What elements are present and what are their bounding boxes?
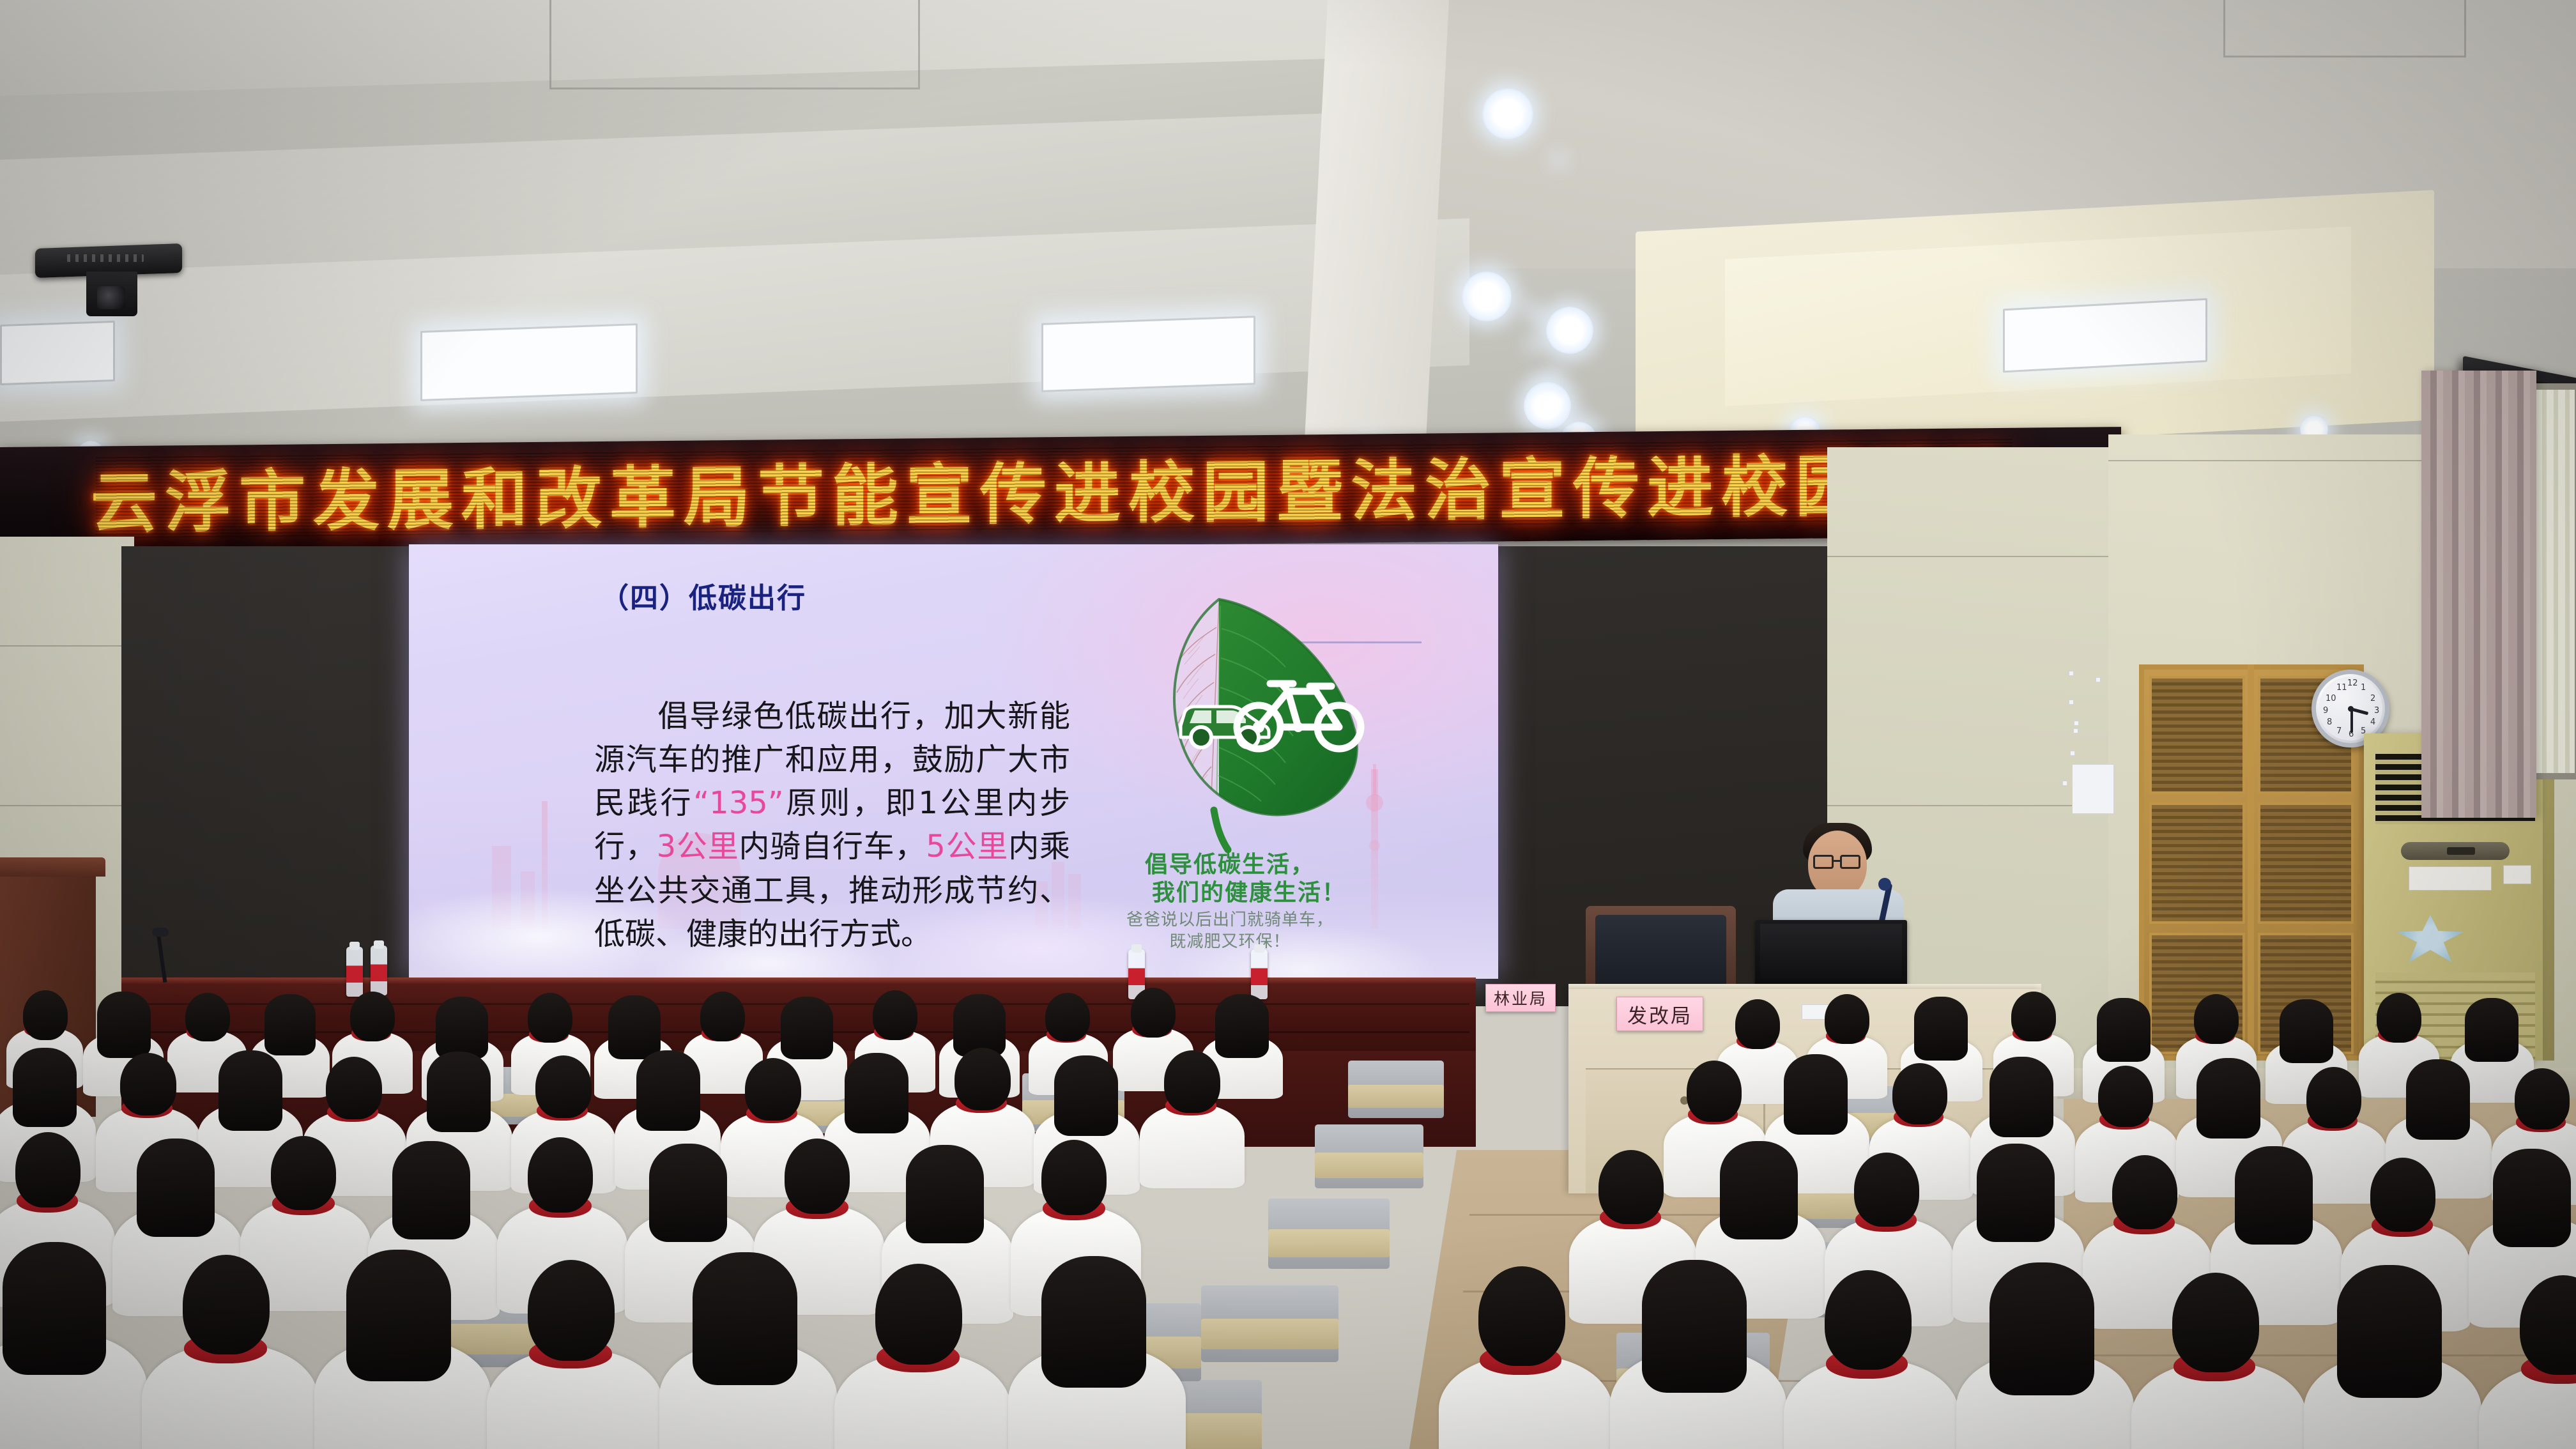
bottle-cap — [374, 940, 384, 949]
audience-head — [528, 993, 572, 1043]
seat-desk — [1315, 1153, 1423, 1178]
ceiling-hatch — [2223, 0, 2466, 57]
audience-head — [15, 1132, 80, 1207]
leaf-graphic — [1080, 583, 1437, 857]
seat-desk — [1268, 1229, 1390, 1257]
ceiling — [0, 0, 2576, 486]
ceiling-panel-light — [0, 321, 115, 385]
seat-desk — [1348, 1085, 1444, 1108]
audience-head — [954, 1048, 1011, 1110]
audience-head — [1215, 994, 1269, 1058]
audience-head — [185, 993, 230, 1041]
audience-head — [1687, 1061, 1742, 1122]
audience-head — [875, 1264, 962, 1365]
eyeglasses-bridge — [1834, 860, 1840, 862]
audience-head — [1784, 1054, 1848, 1135]
audience-head — [120, 1053, 176, 1115]
projector-lens-icon — [97, 286, 125, 309]
audience-head — [2112, 1155, 2177, 1229]
audience-head — [2280, 999, 2333, 1063]
audience-head — [1989, 1057, 2053, 1137]
audience-head — [1892, 1063, 1947, 1124]
audience-head — [1825, 1270, 1912, 1370]
ceiling-panel-light — [420, 323, 638, 401]
ac-label-sticker-small — [2503, 865, 2531, 884]
seat-desk — [1201, 1319, 1338, 1349]
wall-notice — [2069, 671, 2074, 676]
louver-panel — [2149, 802, 2245, 924]
audience-head — [271, 1136, 336, 1210]
wall-notice — [2069, 700, 2074, 705]
projector-vent — [67, 254, 144, 262]
slide-graphic-subcaption: 爸爸说以后出门就骑单车， 既减肥又环保！ — [1064, 910, 1396, 953]
ceiling-panel-light — [1041, 316, 1255, 392]
auditorium-photo: 云浮市发展和改革局节能宣传进校园暨法治宣传进校园活动 — [0, 0, 2576, 1449]
audience-head — [1989, 1262, 2094, 1395]
ceiling-panel-light — [2003, 298, 2207, 373]
louver-panel — [2149, 676, 2245, 794]
audience-head — [1054, 1055, 1118, 1136]
audience-head — [2377, 993, 2421, 1043]
audience-head — [693, 1252, 797, 1385]
audience-head — [873, 990, 917, 1040]
audience-head — [1642, 1260, 1747, 1393]
audience-head — [2406, 1059, 2470, 1140]
wall-notice — [2074, 721, 2079, 726]
ceiling-downlight — [1482, 88, 1533, 139]
subcaption-line-2: 既减肥又环保！ — [1064, 931, 1396, 953]
audience-head — [2097, 998, 2150, 1062]
caption-line-2: 我们的健康生活！ — [1051, 879, 1409, 907]
ceiling-downlight — [1524, 382, 1571, 429]
audience-head — [436, 997, 488, 1059]
audience-head — [608, 995, 661, 1059]
audience-head — [528, 1137, 593, 1213]
ceiling-downlight — [1462, 272, 1512, 321]
clock-face: 12 1 2 3 4 5 6 7 8 9 10 11 — [2319, 677, 2382, 740]
louver-panel — [2258, 802, 2354, 924]
slide-body-text: 倡导绿色低碳出行，加大新能源汽车的推广和应用，鼓励广大市民践行“135”原则，即… — [594, 694, 1070, 956]
audience-head — [1977, 1144, 2055, 1242]
audience-head — [700, 992, 745, 1041]
eyeglasses-icon — [1813, 855, 1834, 869]
audience-head — [1854, 1153, 1919, 1227]
audience-head — [1720, 1141, 1798, 1239]
audience-head — [2306, 1067, 2361, 1128]
audience-head — [1735, 999, 1780, 1049]
audience-head — [528, 1260, 615, 1361]
audience-head — [97, 992, 151, 1058]
audience-head — [1041, 1140, 1107, 1215]
audience-head — [427, 1052, 491, 1132]
audience-head — [13, 1048, 77, 1127]
audience-head — [392, 1141, 470, 1239]
microphone-head-icon — [152, 928, 169, 937]
audience-head — [2196, 1058, 2260, 1138]
audience-head — [1041, 1256, 1146, 1388]
audience-head — [845, 1053, 908, 1133]
audience-head — [2172, 1273, 2259, 1372]
audience-head — [636, 1050, 700, 1131]
ceiling-beam — [1305, 0, 1449, 441]
ac-label-sticker — [2409, 866, 2492, 891]
audience-head — [1478, 1266, 1565, 1366]
clock-minute-hand — [2350, 709, 2353, 733]
bottle-cap — [349, 942, 360, 950]
audience-head — [745, 1058, 801, 1121]
audience-head — [2515, 1068, 2570, 1130]
wall-notice — [2062, 781, 2067, 786]
slide-graphic-caption: 倡导低碳生活， 我们的健康生活！ — [1051, 851, 1409, 907]
audience-head — [183, 1255, 270, 1354]
wall-notice — [2073, 728, 2078, 733]
audience-head — [346, 1250, 451, 1381]
ac-display — [2447, 847, 2475, 855]
projection-screen: （四）低碳出行 倡导绿色低碳出行，加大新能源汽车的推广和应用，鼓励广大市民践行“… — [409, 544, 1498, 979]
audience-head — [2493, 1149, 2571, 1247]
audience-head — [1914, 997, 1968, 1061]
caption-line-1: 倡导低碳生活， — [1051, 851, 1409, 879]
audience-head — [1164, 1050, 1220, 1113]
audience-head — [649, 1144, 727, 1242]
audience-head — [2011, 992, 2056, 1041]
window-curtain — [2421, 371, 2536, 818]
audience-head — [781, 997, 833, 1059]
wall-notice — [2070, 751, 2075, 756]
audience-head — [1045, 993, 1090, 1041]
audience-head — [2337, 1265, 2442, 1398]
audience-head — [535, 1055, 592, 1118]
podium-microphone-head — [1878, 878, 1891, 891]
audience-head — [2098, 1066, 2153, 1127]
eyeglasses-icon — [1840, 855, 1860, 869]
audience-head — [264, 994, 316, 1055]
audience-head — [2465, 998, 2518, 1062]
subcaption-line-1: 爸爸说以后出门就骑单车， — [1064, 910, 1396, 931]
audience-head — [1825, 994, 1869, 1044]
slide-title: （四）低碳出行 — [601, 575, 806, 616]
audience-head — [218, 1050, 282, 1131]
wall-notice — [2096, 677, 2101, 682]
audience-head — [2370, 1158, 2435, 1232]
audience-head — [2235, 1146, 2313, 1245]
wall-notice — [2072, 764, 2114, 814]
audience — [0, 971, 2576, 1449]
ceiling-hatch — [549, 0, 920, 89]
ceiling-downlight — [1546, 307, 1593, 354]
audience-head — [137, 1138, 215, 1237]
bottle-cap — [1131, 944, 1142, 953]
bottle-cap — [1254, 944, 1264, 953]
audience-head — [906, 1145, 984, 1243]
lectern-top — [0, 857, 105, 877]
audience-head — [2194, 994, 2239, 1044]
audience-head — [785, 1138, 850, 1214]
audience-head — [1131, 988, 1176, 1038]
audience-head — [23, 990, 68, 1040]
audience-head — [326, 1057, 382, 1119]
audience-head — [1598, 1150, 1664, 1224]
audience-head — [350, 992, 395, 1041]
audience-head — [3, 1242, 106, 1375]
led-banner: 云浮市发展和改革局节能宣传进校园暨法治宣传进校园活动 — [0, 427, 2121, 556]
